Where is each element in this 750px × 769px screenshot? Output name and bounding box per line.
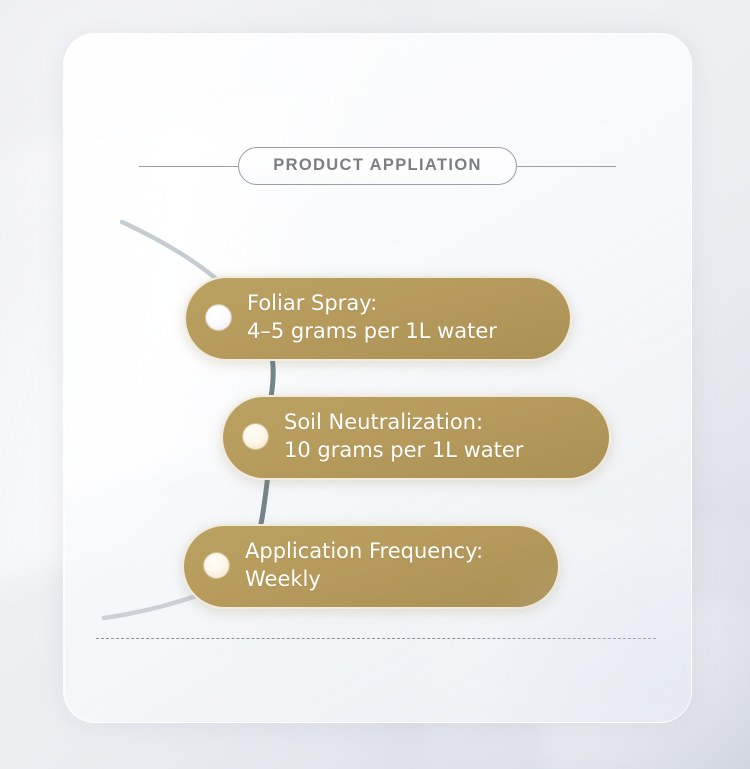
card-header: PRODUCT APPLIATION — [64, 142, 691, 190]
header-rule-left — [139, 166, 239, 167]
dot-bullet-icon — [243, 424, 268, 449]
page-title: PRODUCT APPLIATION — [238, 147, 517, 185]
application-item-label: Soil Neutralization: — [284, 409, 523, 437]
application-item-soil-neutralization[interactable]: Soil Neutralization: 10 grams per 1L wat… — [221, 395, 611, 480]
application-item-text: Foliar Spray: 4–5 grams per 1L water — [247, 290, 497, 346]
application-item-text: Application Frequency: Weekly — [245, 538, 483, 594]
application-item-label: Application Frequency: — [245, 538, 483, 566]
page-root: PRODUCT APPLIATION Foliar Spray: 4–5 gra… — [0, 0, 750, 769]
dot-bullet-icon — [204, 553, 229, 578]
application-item-text: Soil Neutralization: 10 grams per 1L wat… — [284, 409, 523, 465]
application-item-value: 4–5 grams per 1L water — [247, 318, 497, 346]
dot-bullet-icon — [206, 305, 231, 330]
application-item-value: Weekly — [245, 566, 483, 594]
application-item-application-frequency[interactable]: Application Frequency: Weekly — [182, 524, 560, 609]
application-item-label: Foliar Spray: — [247, 290, 497, 318]
connector-path — [64, 34, 691, 722]
footer-divider — [96, 638, 656, 639]
application-item-foliar-spray[interactable]: Foliar Spray: 4–5 grams per 1L water — [184, 276, 572, 361]
product-application-card: PRODUCT APPLIATION Foliar Spray: 4–5 gra… — [63, 33, 692, 723]
header-rule-right — [516, 166, 616, 167]
application-item-value: 10 grams per 1L water — [284, 437, 523, 465]
